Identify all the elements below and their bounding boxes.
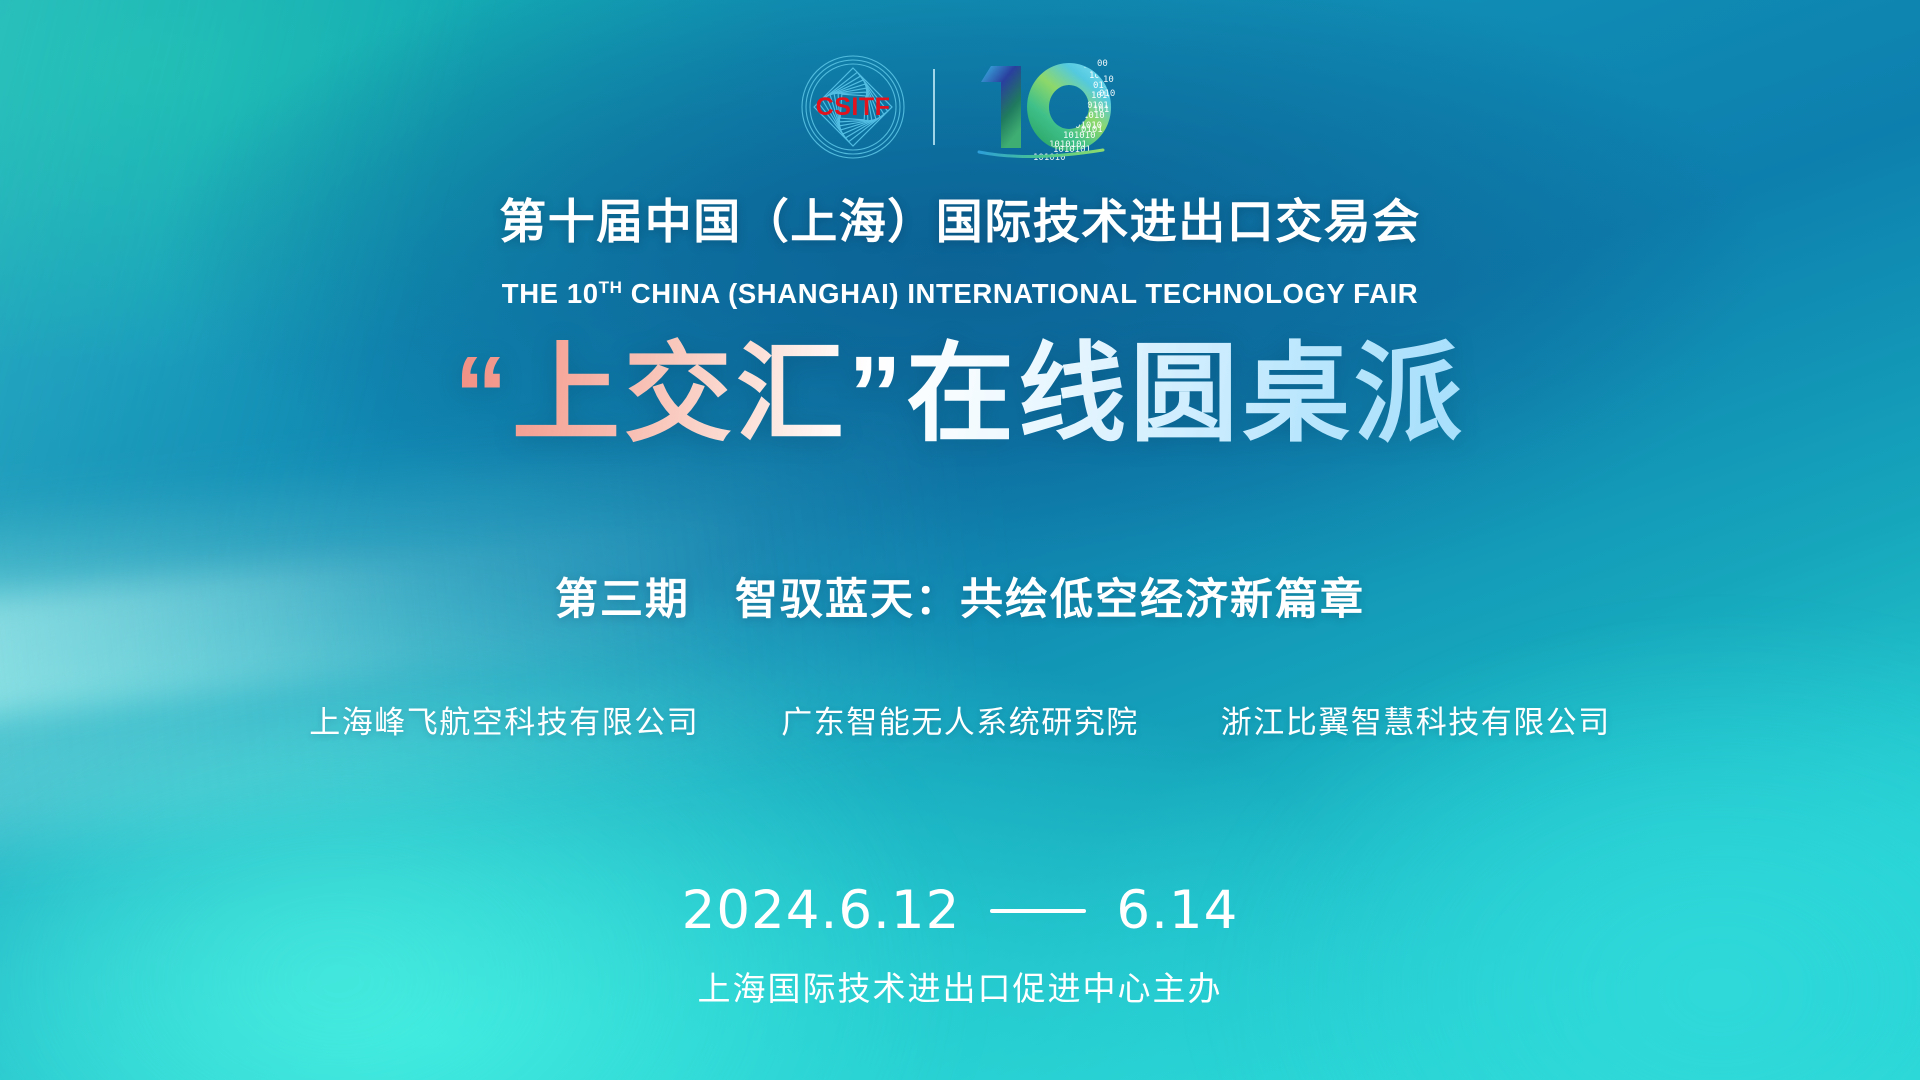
fair-title-chinese: 第十届中国（上海）国际技术进出口交易会 — [0, 196, 1920, 248]
company-name: 上海峰飞航空科技有限公司 — [309, 697, 699, 742]
title-en-suffix: CHINA (SHANGHAI) INTERNATIONAL TECHNOLOG… — [623, 278, 1419, 309]
csitf-logo: CSITF — [795, 52, 911, 162]
program-headline: “上交汇”在线圆桌派 — [0, 330, 1920, 457]
svg-text:10: 10 — [1103, 75, 1114, 85]
date-start: 2024.6.12 — [682, 880, 961, 941]
svg-text:00: 00 — [1097, 59, 1108, 69]
participant-companies: 上海峰飞航空科技有限公司 广东智能无人系统研究院 浙江比翼智慧科技有限公司 — [0, 697, 1920, 742]
svg-text:101: 101 — [1093, 105, 1109, 115]
anniversary-logo: 00 101 010 1010 0101 1010 01010 101010 1… — [957, 52, 1125, 162]
company-name: 广东智能无人系统研究院 — [781, 697, 1139, 742]
promotional-poster: CSITF — [0, 0, 1920, 1080]
svg-text:0101: 0101 — [1081, 125, 1103, 135]
title-en-ordinal: TH — [599, 278, 623, 297]
csitf-wordmark: CSITF — [816, 93, 891, 122]
date-end: 6.14 — [1116, 880, 1238, 941]
svg-text:010: 010 — [1099, 89, 1115, 99]
date-separator-dash — [990, 909, 1086, 913]
fair-title-english: THE 10TH CHINA (SHANGHAI) INTERNATIONAL … — [0, 278, 1920, 310]
episode-title: 第三期 智驭蓝天：共绘低空经济新篇章 — [0, 565, 1920, 627]
company-name: 浙江比翼智慧科技有限公司 — [1221, 697, 1611, 742]
logo-divider — [933, 69, 935, 145]
svg-text:00: 00 — [1083, 61, 1094, 71]
poster-content: CSITF — [0, 0, 1920, 1080]
title-en-prefix: THE 10 — [502, 278, 599, 309]
organizer-line: 上海国际技术进出口促进中心主办 — [0, 962, 1920, 1010]
logo-row: CSITF — [0, 52, 1920, 162]
event-date-range: 2024.6.12 6.14 — [0, 880, 1920, 941]
tenth-anniversary-binary-icon: 00 101 010 1010 0101 1010 01010 101010 1… — [957, 52, 1125, 162]
